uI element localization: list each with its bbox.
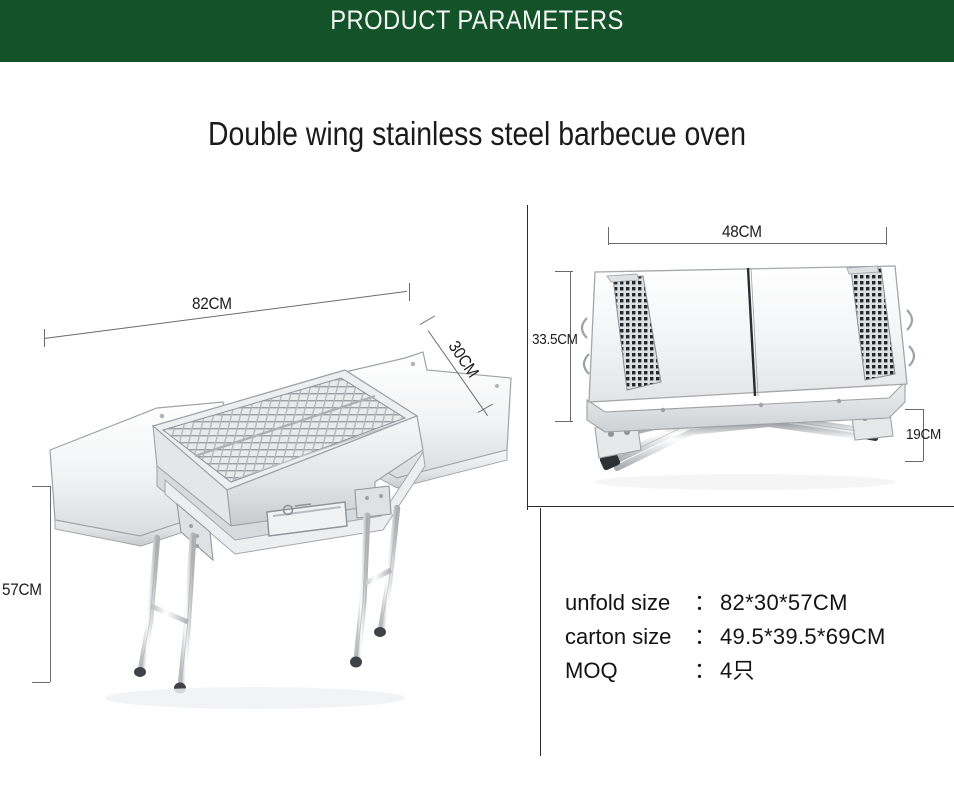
- dim-label-57cm: 57CM: [2, 580, 42, 600]
- spec-row-carton-size: carton size ： 49.5*39.5*69CM: [565, 619, 945, 653]
- folded-barbecue-oven-photo: [565, 250, 940, 500]
- dim-335cm-tick-bottom: [555, 421, 573, 422]
- specification-list: unfold size ： 82*30*57CM carton size ： 4…: [565, 585, 945, 687]
- dim-label-48cm: 48CM: [722, 222, 762, 242]
- spec-colon-unfold-size: ：: [690, 585, 720, 617]
- dim-label-335cm: 33.5CM: [532, 331, 578, 348]
- dim-30cm-tick-top: [420, 316, 435, 325]
- spec-key-carton-size: carton size: [565, 624, 690, 650]
- product-parameters-page: PRODUCT PARAMETERS Double wing stainless…: [0, 0, 954, 800]
- dim-57cm-line: [50, 486, 51, 682]
- spec-value-moq: 4只: [720, 653, 755, 685]
- dim-82cm-tick-right: [409, 283, 410, 301]
- unfolded-barbecue-oven-photo: [45, 330, 515, 720]
- dim-48cm-tick-right: [886, 227, 887, 245]
- dim-label-19cm: 19CM: [906, 426, 941, 443]
- dim-19cm-tick-bottom: [905, 461, 923, 462]
- dim-57cm-tick-top: [32, 486, 50, 487]
- spec-row-moq: MOQ ： 4只: [565, 653, 945, 687]
- vertical-divider-upper: [527, 205, 528, 510]
- dim-57cm-tick-bottom: [32, 682, 50, 683]
- horizontal-divider: [527, 506, 954, 507]
- spec-colon-carton-size: ：: [690, 619, 720, 651]
- product-title: Double wing stainless steel barbecue ove…: [67, 115, 887, 153]
- vertical-divider-lower: [540, 508, 541, 756]
- spec-value-unfold-size: 82*30*57CM: [720, 590, 848, 616]
- dim-label-82cm: 82CM: [192, 294, 232, 314]
- spec-value-carton-size: 49.5*39.5*69CM: [720, 624, 886, 650]
- page-title: PRODUCT PARAMETERS: [57, 0, 897, 40]
- spec-key-unfold-size: unfold size: [565, 590, 690, 616]
- dim-19cm-tick-top: [905, 409, 923, 410]
- spec-key-moq: MOQ: [565, 658, 690, 684]
- spec-row-unfold-size: unfold size ： 82*30*57CM: [565, 585, 945, 619]
- spec-colon-moq: ：: [690, 653, 720, 685]
- header-banner: PRODUCT PARAMETERS: [0, 0, 954, 62]
- dim-48cm-line: [608, 243, 886, 244]
